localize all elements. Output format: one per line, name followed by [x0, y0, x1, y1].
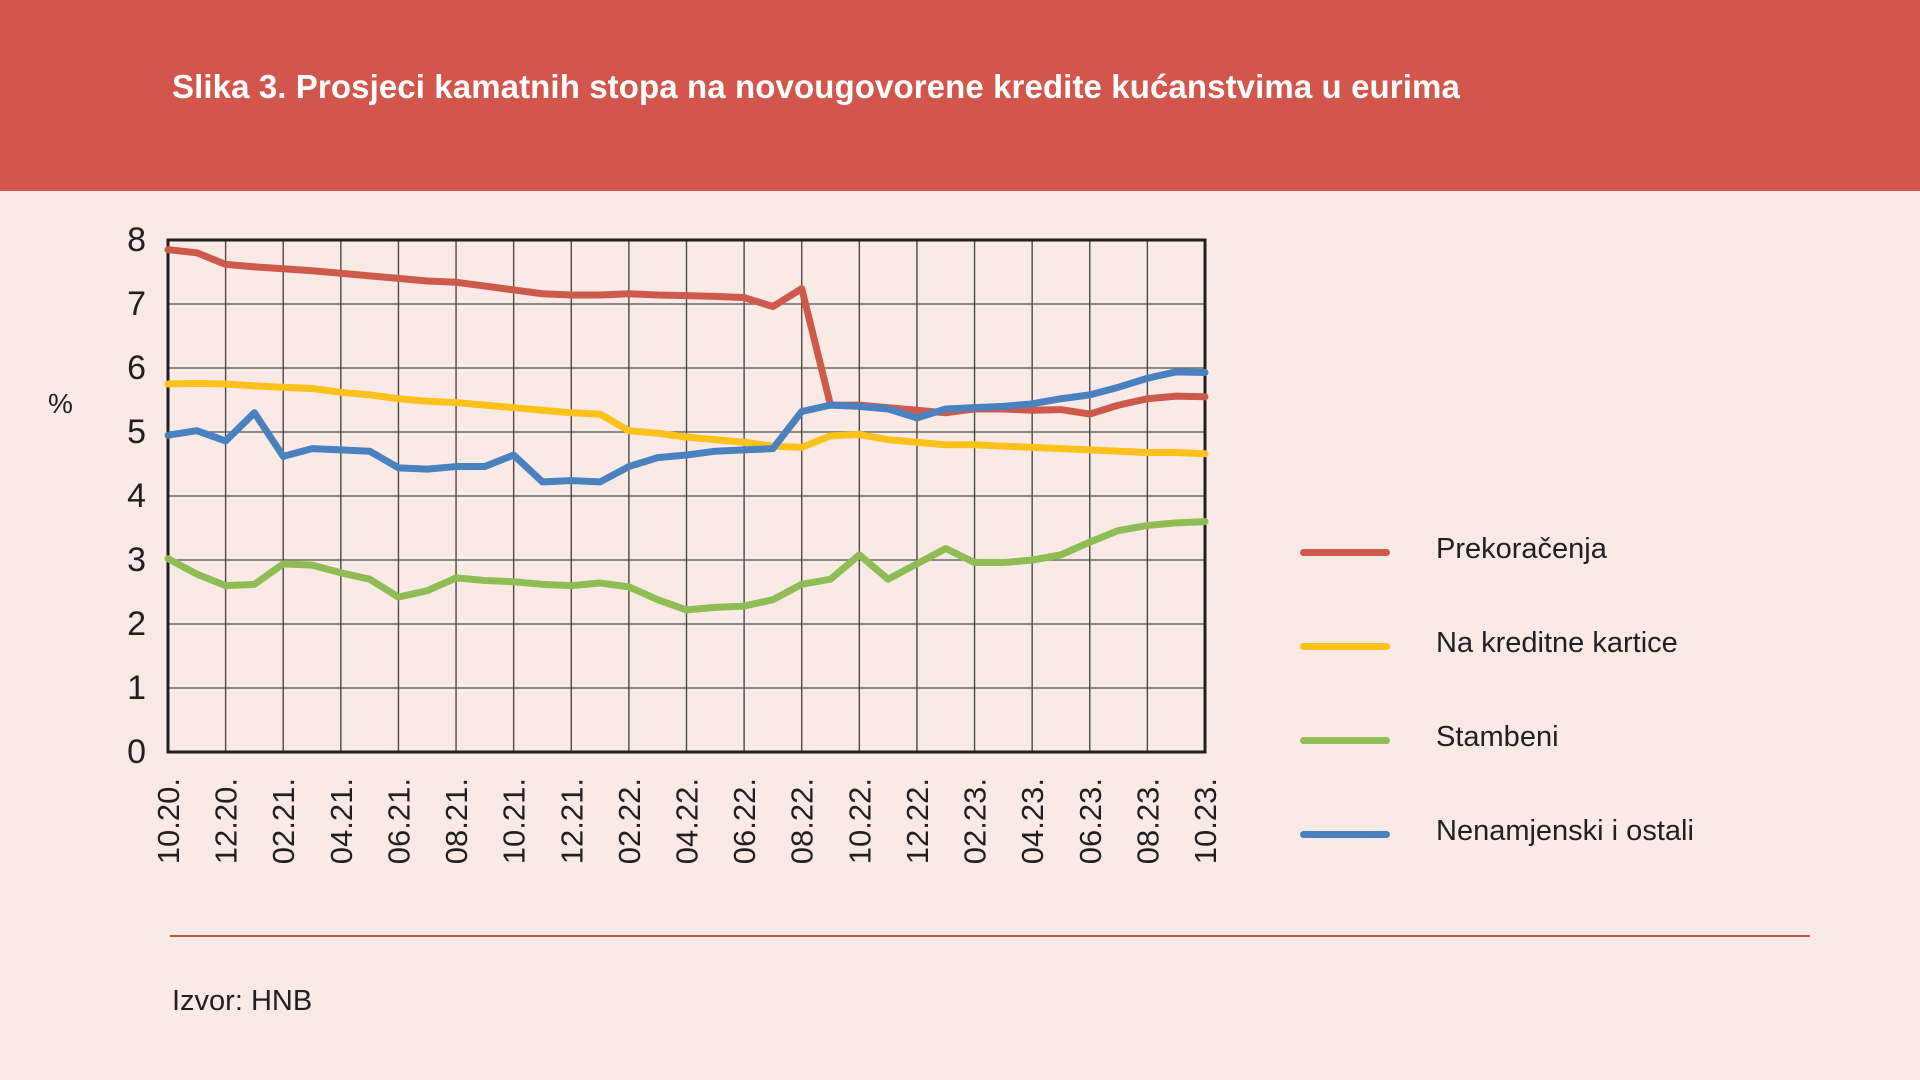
x-tick-label-02.21.: 02.21. — [266, 778, 301, 864]
y-tick-label-3: 3 — [127, 541, 146, 579]
legend-item-prekoracenja: Prekoračenja — [1300, 521, 1820, 615]
x-tick-label-08.23.: 08.23. — [1130, 778, 1165, 864]
y-tick-label-4: 4 — [127, 477, 146, 515]
page-title: Slika 3. Prosjeci kamatnih stopa na novo… — [172, 68, 1460, 106]
x-tick-label-10.20.: 10.20. — [151, 778, 186, 864]
x-tick-label-08.21.: 08.21. — [439, 778, 474, 864]
x-tick-label-04.22.: 04.22. — [670, 778, 705, 864]
x-tick-label-12.22.: 12.22. — [900, 778, 935, 864]
x-tick-label-10.21.: 10.21. — [497, 778, 532, 864]
x-tick-label-06.21.: 06.21. — [381, 778, 416, 864]
legend-swatch-stambeni — [1300, 737, 1390, 744]
header-band: Slika 3. Prosjeci kamatnih stopa na novo… — [0, 0, 1920, 191]
y-axis-title: % — [48, 388, 73, 419]
legend-item-nenamjenski-i-ostali: Nenamjenski i ostali — [1300, 803, 1820, 897]
legend-swatch-na-kreditne-kartice — [1300, 643, 1390, 650]
x-tick-label-02.22.: 02.22. — [612, 778, 647, 864]
x-tick-label-10.22.: 10.22. — [842, 778, 877, 864]
legend-swatch-prekoracenja — [1300, 549, 1390, 556]
y-tick-label-7: 7 — [127, 285, 146, 323]
x-axis-tick-labels: 10.20.12.20.02.21.04.21.06.21.08.21.10.2… — [151, 778, 1223, 864]
x-tick-label-04.23.: 04.23. — [1015, 778, 1050, 864]
x-tick-label-12.21.: 12.21. — [554, 778, 589, 864]
figure-page: Slika 3. Prosjeci kamatnih stopa na novo… — [0, 0, 1920, 1080]
x-tick-label-12.20.: 12.20. — [209, 778, 244, 864]
legend-swatch-nenamjenski-i-ostali — [1300, 831, 1390, 838]
legend-label-stambeni: Stambeni — [1436, 721, 1559, 754]
legend-item-na-kreditne-kartice: Na kreditne kartice — [1300, 615, 1820, 709]
x-tick-label-04.21.: 04.21. — [324, 778, 359, 864]
source-note: Izvor: HNB — [172, 985, 312, 1018]
y-tick-label-6: 6 — [127, 349, 146, 387]
x-tick-label-02.23.: 02.23. — [958, 778, 993, 864]
y-axis-tick-labels: 012345678 — [127, 221, 146, 771]
legend-item-stambeni: Stambeni — [1300, 709, 1820, 803]
x-tick-label-06.22.: 06.22. — [727, 778, 762, 864]
legend-label-na-kreditne-kartice: Na kreditne kartice — [1436, 627, 1678, 660]
footer-divider — [170, 935, 1810, 937]
x-tick-label-10.23.: 10.23. — [1188, 778, 1223, 864]
y-tick-label-8: 8 — [127, 221, 146, 259]
legend-label-prekoracenja: Prekoračenja — [1436, 533, 1607, 566]
x-tick-label-06.23.: 06.23. — [1073, 778, 1108, 864]
chart-legend: Prekoračenja Na kreditne kartice Stamben… — [1300, 521, 1820, 897]
y-tick-label-1: 1 — [127, 669, 146, 707]
legend-label-nenamjenski-i-ostali: Nenamjenski i ostali — [1436, 815, 1694, 848]
y-tick-label-2: 2 — [127, 605, 146, 643]
y-tick-label-0: 0 — [127, 733, 146, 771]
chart-area: 012345678 10.20.12.20.02.21.04.21.06.21.… — [0, 191, 1920, 1080]
grid-layer — [168, 240, 1205, 752]
x-tick-label-08.22.: 08.22. — [785, 778, 820, 864]
y-tick-label-5: 5 — [127, 413, 146, 451]
